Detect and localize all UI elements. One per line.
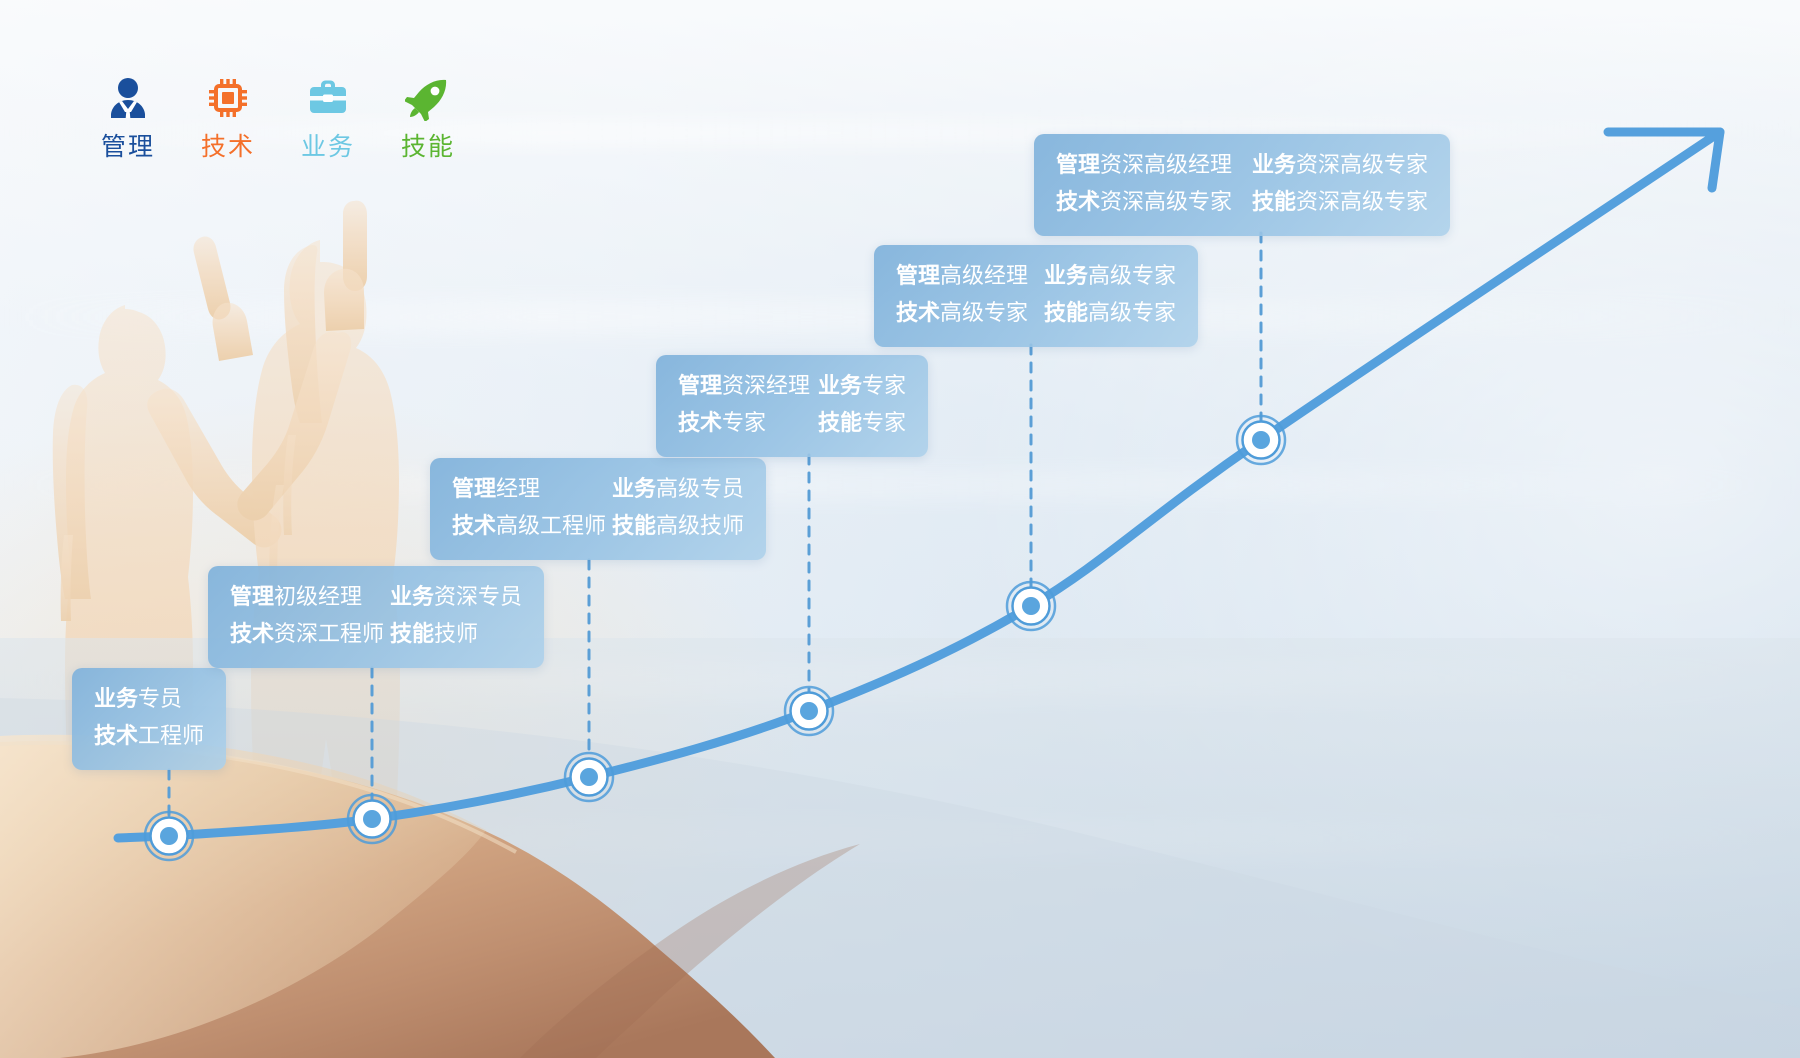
level-entry: 技能高级专家 xyxy=(1044,298,1176,330)
level-category: 管理 xyxy=(1056,153,1100,178)
legend: 管理 xyxy=(78,72,478,159)
level-entry: 业务专家 xyxy=(818,371,906,403)
level-category: 管理 xyxy=(452,477,496,502)
level-category: 业务 xyxy=(818,374,862,399)
level-category: 技能 xyxy=(1044,301,1088,326)
level-entry: 管理高级经理 xyxy=(896,261,1044,293)
level-category: 业务 xyxy=(1044,264,1088,289)
level-entry: 管理资深高级经理 xyxy=(1056,150,1252,182)
level-card-level-5[interactable]: 管理高级经理业务高级专家技术高级专家技能高级专家 xyxy=(874,245,1198,347)
cpu-chip-icon xyxy=(205,72,251,124)
level-title: 专员 xyxy=(138,687,182,712)
level-category: 技术 xyxy=(678,411,722,436)
level-row: 管理经理业务高级专员 xyxy=(452,474,744,506)
level-category: 技术 xyxy=(230,622,274,647)
level-row: 管理资深经理业务专家 xyxy=(678,371,906,403)
level-title: 专家 xyxy=(722,411,766,436)
level-entry: 技能高级技师 xyxy=(612,511,744,543)
level-entry: 技能专家 xyxy=(818,408,906,440)
level-title: 资深经理 xyxy=(722,374,810,399)
briefcase-icon xyxy=(305,72,351,124)
level-category: 技能 xyxy=(818,411,862,436)
level-title: 高级专家 xyxy=(940,301,1028,326)
level-title: 经理 xyxy=(496,477,540,502)
level-category: 业务 xyxy=(390,585,434,610)
level-title: 资深高级专家 xyxy=(1100,190,1232,215)
level-category: 管理 xyxy=(678,374,722,399)
legend-item-skill[interactable]: 技能 xyxy=(378,72,478,159)
level-category: 业务 xyxy=(94,687,138,712)
level-title: 专家 xyxy=(862,411,906,436)
level-title: 资深高级经理 xyxy=(1100,153,1232,178)
level-category: 技术 xyxy=(1056,190,1100,215)
level-category: 技术 xyxy=(452,514,496,539)
level-title: 资深高级专家 xyxy=(1296,153,1428,178)
level-entry: 技能技师 xyxy=(390,619,478,651)
level-title: 高级专家 xyxy=(1088,301,1176,326)
level-title: 高级工程师 xyxy=(496,514,606,539)
career-path-infographic: 管理 xyxy=(0,0,1800,1058)
level-entry: 技术高级专家 xyxy=(896,298,1044,330)
legend-label: 技术 xyxy=(201,134,255,159)
level-entry: 技术专家 xyxy=(678,408,818,440)
level-entry: 业务资深高级专家 xyxy=(1252,150,1428,182)
level-entry: 技术资深工程师 xyxy=(230,619,390,651)
level-entry: 业务高级专家 xyxy=(1044,261,1176,293)
level-row: 技术高级工程师技能高级技师 xyxy=(452,511,744,543)
legend-item-business[interactable]: 业务 xyxy=(278,72,378,159)
level-card-level-1[interactable]: 业务专员技术工程师 xyxy=(72,668,226,770)
level-entry: 管理资深经理 xyxy=(678,371,818,403)
level-title: 初级经理 xyxy=(274,585,362,610)
level-entry: 技术资深高级专家 xyxy=(1056,187,1252,219)
level-title: 专家 xyxy=(862,374,906,399)
level-category: 管理 xyxy=(230,585,274,610)
level-card-level-6[interactable]: 管理资深高级经理业务资深高级专家技术资深高级专家技能资深高级专家 xyxy=(1034,134,1450,236)
level-category: 技能 xyxy=(612,514,656,539)
level-row: 技术高级专家技能高级专家 xyxy=(896,298,1176,330)
level-row: 管理初级经理业务资深专员 xyxy=(230,582,522,614)
level-row: 业务专员 xyxy=(94,684,204,716)
level-title: 资深专员 xyxy=(434,585,522,610)
level-title: 资深工程师 xyxy=(274,622,384,647)
level-category: 技能 xyxy=(390,622,434,647)
level-entry: 业务资深专员 xyxy=(390,582,522,614)
level-title: 高级经理 xyxy=(940,264,1028,289)
level-category: 业务 xyxy=(1252,153,1296,178)
level-title: 工程师 xyxy=(138,724,204,749)
level-entry: 技术工程师 xyxy=(94,721,204,753)
legend-item-technology[interactable]: 技术 xyxy=(178,72,278,159)
level-row: 管理高级经理业务高级专家 xyxy=(896,261,1176,293)
level-entry: 管理经理 xyxy=(452,474,612,506)
level-card-level-4[interactable]: 管理资深经理业务专家技术专家技能专家 xyxy=(656,355,928,457)
level-entry: 业务专员 xyxy=(94,684,182,716)
level-row: 技术专家技能专家 xyxy=(678,408,906,440)
level-row: 技术资深工程师技能技师 xyxy=(230,619,522,651)
level-entry: 技能资深高级专家 xyxy=(1252,187,1428,219)
level-row: 技术资深高级专家技能资深高级专家 xyxy=(1056,187,1428,219)
level-category: 技能 xyxy=(1252,190,1296,215)
level-category: 业务 xyxy=(612,477,656,502)
level-category: 技术 xyxy=(896,301,940,326)
level-title: 高级专员 xyxy=(656,477,744,502)
level-title: 资深高级专家 xyxy=(1296,190,1428,215)
legend-item-management[interactable]: 管理 xyxy=(78,72,178,159)
level-card-level-3[interactable]: 管理经理业务高级专员技术高级工程师技能高级技师 xyxy=(430,458,766,560)
rocket-icon xyxy=(405,72,451,124)
level-card-level-2[interactable]: 管理初级经理业务资深专员技术资深工程师技能技师 xyxy=(208,566,544,668)
level-entry: 管理初级经理 xyxy=(230,582,390,614)
level-title: 技师 xyxy=(434,622,478,647)
sand-dune xyxy=(0,638,1800,1058)
level-entry: 技术高级工程师 xyxy=(452,511,612,543)
manager-person-icon xyxy=(105,72,151,124)
level-row: 技术工程师 xyxy=(94,721,204,753)
legend-label: 技能 xyxy=(401,134,455,159)
level-title: 高级技师 xyxy=(656,514,744,539)
level-title: 高级专家 xyxy=(1088,264,1176,289)
level-row: 管理资深高级经理业务资深高级专家 xyxy=(1056,150,1428,182)
level-category: 技术 xyxy=(94,724,138,749)
level-category: 管理 xyxy=(896,264,940,289)
level-entry: 业务高级专员 xyxy=(612,474,744,506)
legend-label: 业务 xyxy=(301,134,355,159)
legend-label: 管理 xyxy=(101,134,155,159)
